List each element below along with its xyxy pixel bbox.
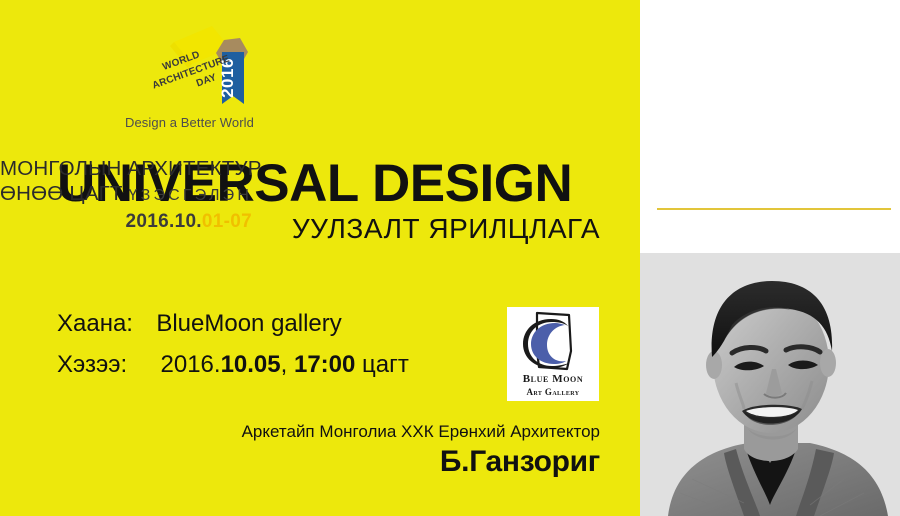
exhibition-date-highlight: 01-07: [202, 211, 252, 232]
crescent-moon-icon: [507, 311, 599, 373]
exhibition-line-1: МОНГОЛЫН АРХИТЕКТУР: [0, 156, 252, 181]
date-separator: ,: [281, 351, 288, 378]
right-header-panel: [640, 0, 900, 253]
datetime-label: Хэзээ:: [57, 344, 127, 385]
venue-line: Хаана: BlueMoon gallery: [57, 303, 409, 344]
yellow-background-panel: UNIVERSAL DESIGN УУЛЗАЛТ ЯРИЛЦЛАГА Хаана…: [0, 0, 640, 516]
blue-moon-gallery-logo: Blue Moon Art Gallery: [507, 307, 599, 401]
exhibition-heading: МОНГОЛЫН АРХИТЕКТУР ӨНӨӨ ЦАГТ ҮЗЭСГЭЛЭН: [0, 156, 252, 208]
date-value: 10.05: [221, 351, 281, 378]
exhibition-line-2: ӨНӨӨ ЦАГТ ҮЗЭСГЭЛЭН: [0, 181, 252, 208]
portrait-photo-icon: [640, 253, 900, 516]
exhibition-line-2-spaced: ҮЗЭСГЭЛЭН: [129, 187, 253, 204]
exhibition-line-2-main: ӨНӨӨ ЦАГТ: [0, 182, 123, 205]
poster-canvas: UNIVERSAL DESIGN УУЛЗАЛТ ЯРИЛЦЛАГА Хаана…: [0, 0, 900, 516]
venue-value: BlueMoon gallery: [156, 310, 341, 337]
venue-label: Хаана:: [57, 303, 133, 344]
date-prefix: 2016.: [161, 351, 221, 378]
event-details: Хаана: BlueMoon gallery Хэзээ: 2016.10.0…: [57, 303, 409, 385]
speaker-block: Аркетайп Монголиа ХХК Ерөнхий Архитектор…: [0, 420, 600, 480]
time-suffix: цагт: [362, 351, 409, 378]
blue-moon-caption: Blue Moon Art Gallery: [507, 373, 599, 398]
exhibition-date-prefix: 2016.10.: [126, 211, 202, 232]
world-architecture-day-logo-icon: 2016 WORLD ARCHITECTURE DAY: [152, 22, 252, 114]
speaker-name: Б.Ганзориг: [0, 444, 600, 480]
blue-moon-name: Blue Moon: [507, 373, 599, 386]
exhibition-divider: [657, 208, 891, 210]
speaker-portrait: [640, 253, 900, 516]
speaker-role: Аркетайп Монголиа ХХК Ерөнхий Архитектор: [0, 420, 600, 444]
datetime-line: Хэзээ: 2016.10.05, 17:00 цагт: [57, 344, 409, 385]
time-value: 17:00: [294, 351, 355, 378]
blue-moon-subtitle: Art Gallery: [507, 386, 599, 398]
exhibition-date: 2016.10.01-07: [0, 211, 252, 233]
logo-tagline: Design a Better World: [0, 115, 254, 130]
